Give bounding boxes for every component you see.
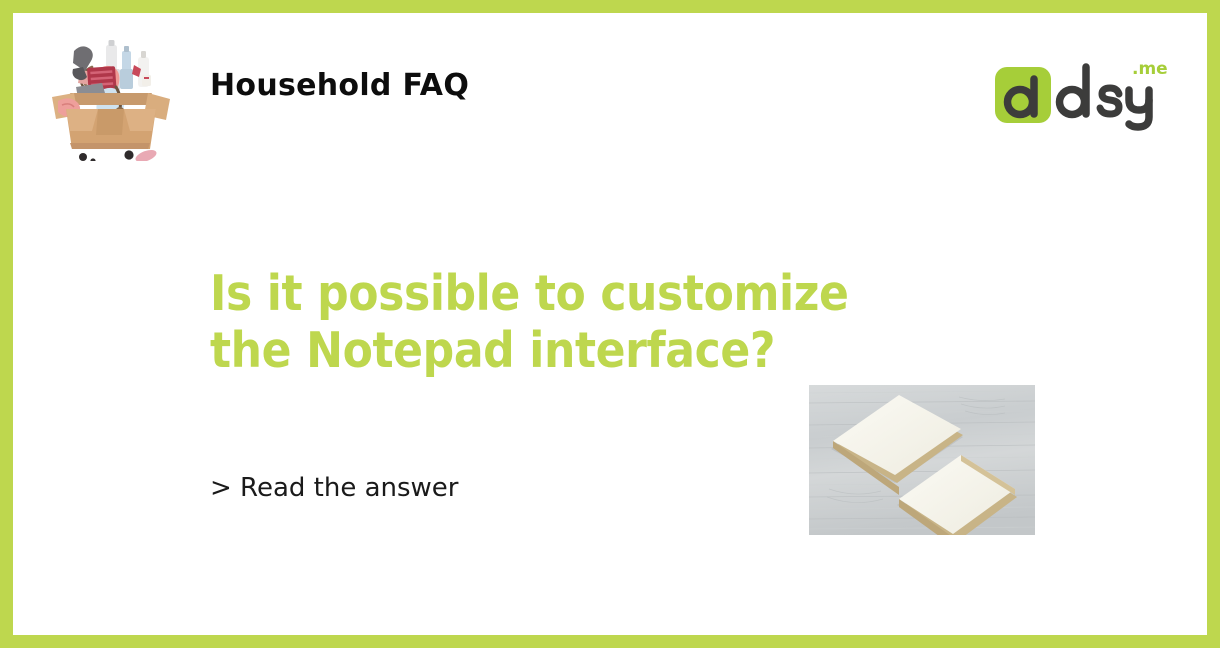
headline: Is it possible to customize the Notepad … — [210, 265, 980, 379]
headline-line-1: Is it possible to customize — [210, 265, 980, 322]
read-answer-link[interactable]: > Read the answer — [210, 473, 459, 503]
adsy-logo[interactable]: .me — [993, 55, 1168, 135]
header: Household FAQ — [13, 13, 1207, 173]
notepad-photo — [809, 385, 1035, 535]
card-inner-surface: Household FAQ — [13, 13, 1207, 635]
svg-text:.me: .me — [1132, 59, 1168, 79]
page-title: Household FAQ — [210, 68, 469, 103]
headline-line-2: the Notepad interface? — [210, 322, 980, 379]
household-box-illustration — [46, 31, 176, 161]
faq-card: Household FAQ — [0, 0, 1220, 648]
